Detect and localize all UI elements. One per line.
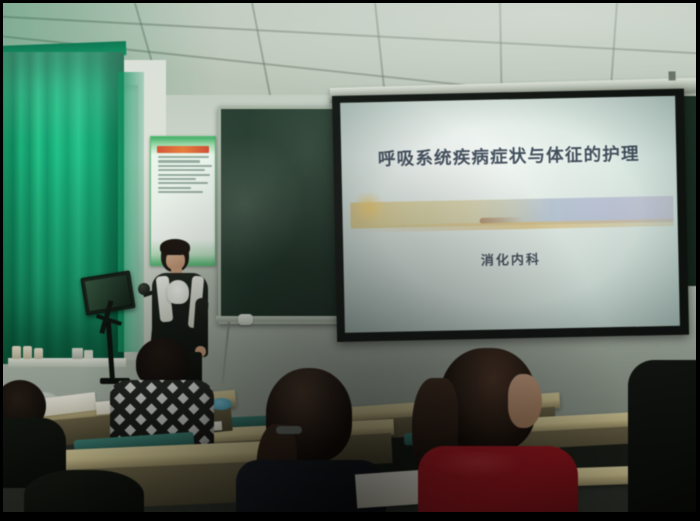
hair-tie — [276, 426, 302, 434]
sill-bottle — [23, 346, 32, 359]
classroom-photo: 呼吸系统疾病症状与体征的护理 消化内科 — [0, 0, 700, 521]
sill-bottle — [12, 346, 21, 359]
projection-screen-frame: 呼吸系统疾病症状与体征的护理 消化内科 — [332, 89, 689, 342]
blackboard — [218, 106, 348, 324]
chalk-tray — [216, 316, 344, 322]
audience-right-edge — [628, 360, 700, 521]
letterbox-edge — [0, 0, 3, 521]
poster-title-bar — [157, 146, 209, 153]
letterbox-edge — [0, 512, 700, 521]
letterbox-edge — [0, 0, 700, 3]
sill-cup — [84, 350, 93, 359]
presenter-scarf — [167, 280, 189, 304]
projection-screen-surface: 呼吸系统疾病症状与体征的护理 消化内科 — [340, 96, 680, 333]
sill-bottle — [34, 348, 43, 359]
microphone-icon — [138, 283, 150, 295]
sill-cup — [72, 348, 83, 359]
letterbox-edge — [696, 0, 700, 521]
wall-speaker-icon — [238, 314, 253, 325]
audience-red-top — [412, 348, 580, 521]
